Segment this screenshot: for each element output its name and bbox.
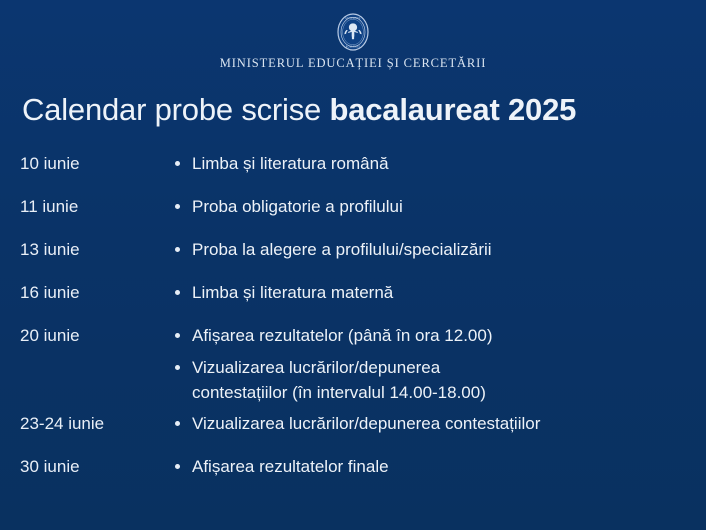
schedule-row: 11 iunieProba obligatorie a profilului [20,194,692,219]
schedule-date: 13 iunie [20,237,175,262]
schedule-date: 10 iunie [20,151,175,176]
schedule-item-line: Vizualizarea lucrărilor/depunerea contes… [192,411,692,436]
page-title: Calendar probe scrise bacalaureat 2025 [22,93,706,127]
schedule-row: 16 iunieLimba și literatura maternă [20,280,692,305]
schedule-date: 20 iunie [20,323,175,348]
bullet-icon [175,464,180,469]
schedule-date: 30 iunie [20,454,175,479]
schedule-date: 23-24 iunie [20,411,175,436]
schedule-date: 11 iunie [20,194,175,219]
schedule-item-line: Limba și literatura română [192,151,692,176]
schedule-item-line: Vizualizarea lucrărilor/depunerea [192,355,692,380]
schedule-item: Afișarea rezultatelor (până în ora 12.00… [175,323,692,348]
poster-root: GUVERNUL ROMÂNIEI MINISTERUL EDUCAȚIEI Ș… [0,0,706,530]
schedule-row: 20 iunieAfișarea rezultatelor (până în o… [20,323,692,405]
ministry-name: MINISTERUL EDUCAȚIEI ȘI CERCETĂRII [0,56,706,71]
bullet-icon [175,161,180,166]
schedule-row: 10 iunieLimba și literatura română [20,151,692,176]
schedule-item-line: Proba la alegere a profilului/specializă… [192,237,692,262]
schedule-date: 16 iunie [20,280,175,305]
schedule-item: Afișarea rezultatelor finale [175,454,692,479]
bullet-icon [175,204,180,209]
schedule-items: Afișarea rezultatelor finale [175,454,692,479]
schedule-item: Vizualizarea lucrărilor/depunerea contes… [175,411,692,436]
schedule-item: Limba și literatura română [175,151,692,176]
schedule-row: 23-24 iunieVizualizarea lucrărilor/depun… [20,411,692,436]
schedule-item: Limba și literatura maternă [175,280,692,305]
schedule-items: Proba la alegere a profilului/specializă… [175,237,692,262]
bullet-icon [175,365,180,370]
schedule-row: 30 iunieAfișarea rezultatelor finale [20,454,692,479]
schedule-item: Vizualizarea lucrărilor/depunereacontest… [175,355,692,405]
bullet-icon [175,421,180,426]
schedule-items: Limba și literatura maternă [175,280,692,305]
schedule-row: 13 iunieProba la alegere a profilului/sp… [20,237,692,262]
schedule-item: Proba obligatorie a profilului [175,194,692,219]
schedule-items: Afișarea rezultatelor (până în ora 12.00… [175,323,692,405]
schedule-item-line: Afișarea rezultatelor finale [192,454,692,479]
schedule-item-line: contestațiilor (în intervalul 14.00-18.0… [192,380,692,405]
page-title-light: Calendar probe scrise [22,92,329,127]
page-title-bold: bacalaureat 2025 [329,92,576,127]
bullet-icon [175,333,180,338]
schedule-items: Proba obligatorie a profilului [175,194,692,219]
svg-text:GUVERNUL: GUVERNUL [345,17,361,20]
schedule-items: Limba și literatura română [175,151,692,176]
schedule-list: 10 iunieLimba și literatura română11 iun… [0,151,706,479]
schedule-item-line: Afișarea rezultatelor (până în ora 12.00… [192,323,692,348]
schedule-items: Vizualizarea lucrărilor/depunerea contes… [175,411,692,436]
schedule-item-line: Limba și literatura maternă [192,280,692,305]
bullet-icon [175,247,180,252]
schedule-item: Proba la alegere a profilului/specializă… [175,237,692,262]
svg-text:ROMÂNIEI: ROMÂNIEI [346,45,361,48]
bullet-icon [175,290,180,295]
schedule-item-line: Proba obligatorie a profilului [192,194,692,219]
brand-header: GUVERNUL ROMÂNIEI MINISTERUL EDUCAȚIEI Ș… [0,0,706,71]
romanian-coat-of-arms-seal-icon: GUVERNUL ROMÂNIEI [333,12,373,52]
